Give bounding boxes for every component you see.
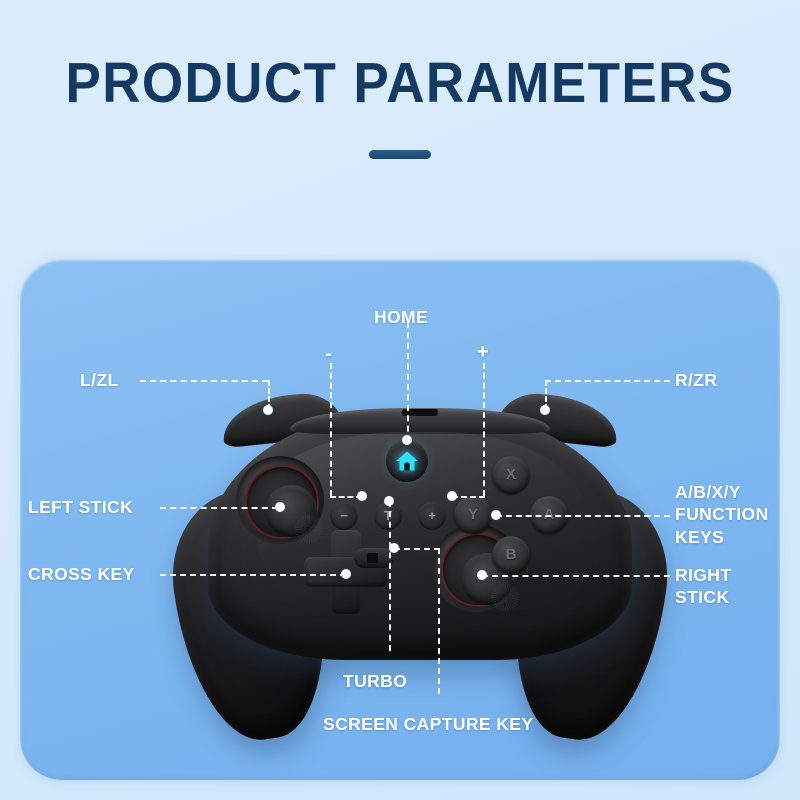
face-button-x[interactable]: X bbox=[492, 456, 530, 494]
leader-line-turbo bbox=[389, 501, 391, 651]
leader-dot-right-stick bbox=[477, 570, 487, 580]
callout-right-stick: RIGHT STICK bbox=[675, 564, 731, 609]
leader-line-capture-vertical bbox=[438, 548, 440, 694]
callout-r-zr: R/ZR bbox=[675, 369, 717, 391]
screen-capture-button[interactable] bbox=[354, 548, 394, 568]
callout-screen-capture: SCREEN CAPTURE KEY bbox=[323, 713, 533, 735]
leader-line-left-stick bbox=[160, 507, 278, 509]
leader-line-lzl-horizontal bbox=[140, 380, 268, 382]
leader-line-right-stick bbox=[482, 575, 670, 577]
leader-line-rzr-horizontal bbox=[545, 380, 670, 382]
leader-dot-turbo bbox=[384, 496, 394, 506]
right-stick-texture bbox=[491, 583, 519, 611]
home-button[interactable] bbox=[386, 440, 428, 482]
leader-dot-lzl bbox=[263, 405, 273, 415]
callout-plus: + bbox=[477, 342, 489, 362]
callout-home: HOME bbox=[374, 306, 428, 328]
leader-dot-cross-key bbox=[341, 569, 351, 579]
leader-dot-rzr bbox=[540, 405, 550, 415]
leader-line-cross-key bbox=[160, 574, 346, 576]
face-button-y[interactable]: Y bbox=[454, 496, 492, 534]
leader-dot-home bbox=[402, 435, 412, 445]
page-header: PRODUCT PARAMETERS bbox=[0, 0, 800, 250]
leader-dot-minus bbox=[357, 491, 367, 501]
minus-button[interactable]: − bbox=[330, 502, 358, 530]
turbo-button[interactable]: T bbox=[374, 502, 402, 530]
capture-square-icon bbox=[367, 553, 378, 563]
leader-dot-abxy bbox=[491, 510, 501, 520]
leader-line-abxy bbox=[496, 515, 670, 517]
callout-cross-key: CROSS KEY bbox=[28, 563, 135, 585]
leader-line-home bbox=[407, 322, 409, 442]
leader-line-capture-horizontal bbox=[394, 548, 440, 550]
leader-line-minus-vertical bbox=[330, 363, 332, 496]
leader-dot-capture bbox=[389, 543, 399, 553]
callout-minus: - bbox=[325, 344, 332, 364]
face-button-b[interactable]: B bbox=[492, 536, 530, 574]
callout-left-stick: LEFT STICK bbox=[28, 496, 133, 518]
callout-l-zl: L/ZL bbox=[80, 369, 119, 391]
callout-abxy: A/B/X/Y FUNCTION KEYS bbox=[675, 481, 769, 548]
title-underline-accent bbox=[369, 150, 431, 159]
leader-dot-left-stick bbox=[275, 502, 285, 512]
leader-dot-plus bbox=[447, 491, 457, 501]
plus-button[interactable]: + bbox=[418, 502, 446, 530]
callout-turbo: TURBO bbox=[343, 670, 407, 692]
leader-line-plus-vertical bbox=[483, 363, 485, 496]
home-house-icon bbox=[395, 450, 419, 472]
page-title: PRODUCT PARAMETERS bbox=[28, 50, 772, 116]
diagram-panel: X Y A B − T + bbox=[20, 258, 780, 780]
